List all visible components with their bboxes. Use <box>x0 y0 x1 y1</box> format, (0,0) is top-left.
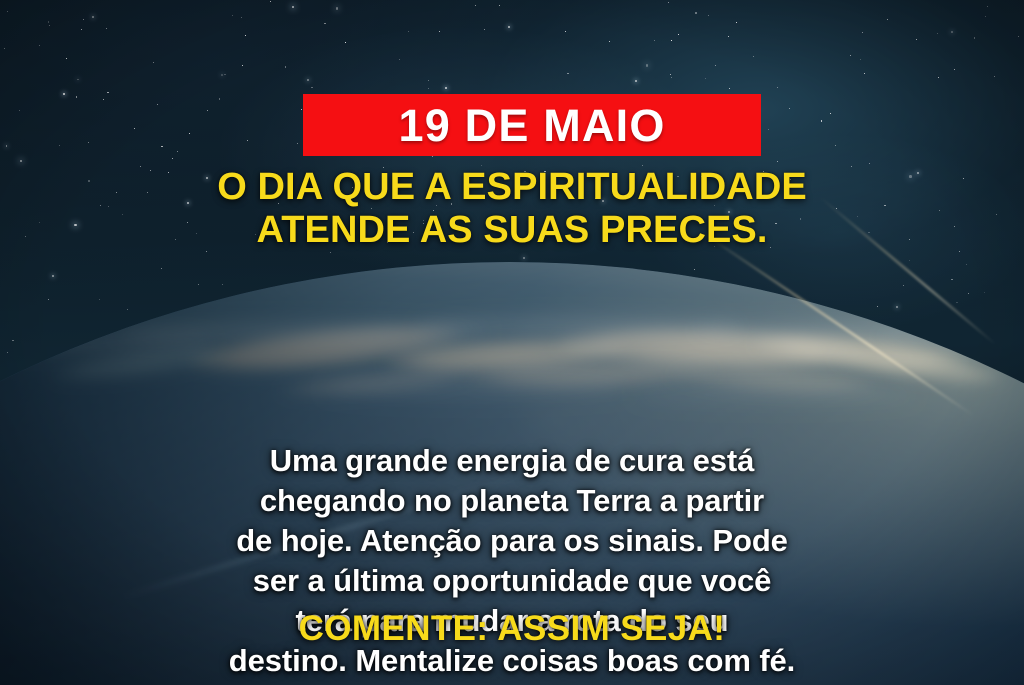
body-copy-line-2: chegando no planeta Terra a partir <box>0 481 1024 521</box>
body-copy-line-1: Uma grande energia de cura está <box>0 441 1024 481</box>
date-banner-label: 19 DE MAIO <box>398 103 665 148</box>
call-to-action: COMENTE: ASSIM SEJA! <box>0 610 1024 649</box>
poster-content: 19 DE MAIO O DIA QUE A ESPIRITUALIDADE A… <box>0 0 1024 685</box>
date-banner: 19 DE MAIO <box>303 94 761 156</box>
body-copy-line-4: ser a última oportunidade que você <box>0 561 1024 601</box>
promotional-poster: 19 DE MAIO O DIA QUE A ESPIRITUALIDADE A… <box>0 0 1024 685</box>
headline: O DIA QUE A ESPIRITUALIDADE ATENDE AS SU… <box>0 166 1024 251</box>
body-copy-line-3: de hoje. Atenção para os sinais. Pode <box>0 521 1024 561</box>
headline-line-2: ATENDE AS SUAS PRECES. <box>0 209 1024 252</box>
headline-line-1: O DIA QUE A ESPIRITUALIDADE <box>0 166 1024 209</box>
